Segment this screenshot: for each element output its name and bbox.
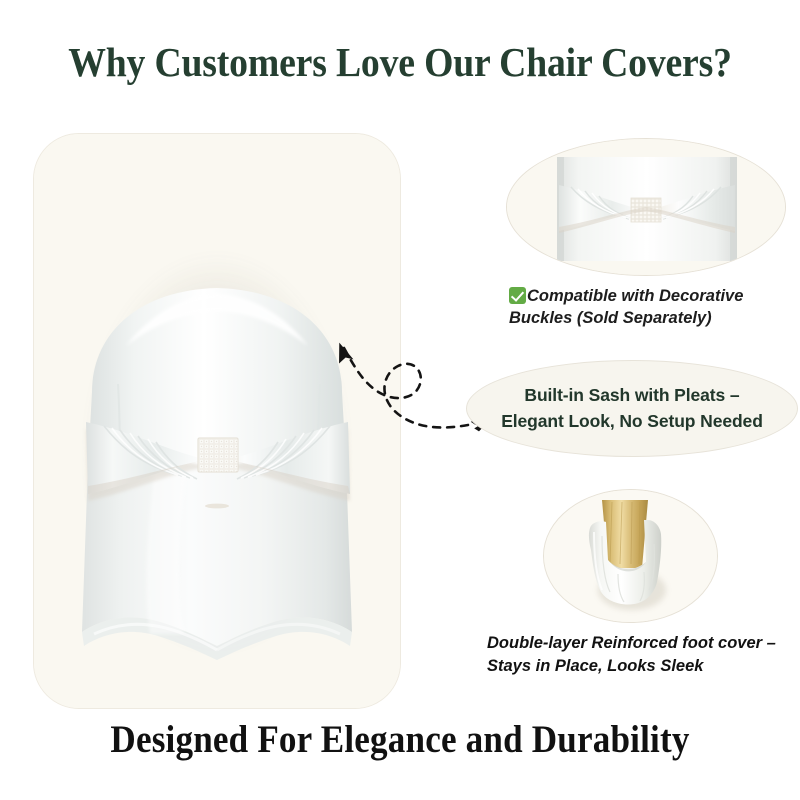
green-check-icon [509, 287, 526, 304]
chair-leg [602, 500, 648, 568]
callout-reinforced-foot-cover-line2: Stays in Place, Looks Sleek [487, 657, 703, 675]
callout-compatible-buckles: Compatible with DecorativeBuckles (Sold … [509, 285, 771, 330]
foot-cover-closeup-image [543, 489, 718, 623]
sash-closeup-svg [507, 139, 785, 275]
callout-built-in-sash-line2: Elegant Look, No Setup Needed [501, 411, 763, 431]
callout-reinforced-foot-cover-line1: Double-layer Reinforced foot cover – [487, 634, 776, 652]
foot-cover-closeup-svg [544, 490, 717, 622]
callout-compatible-buckles-line2: Buckles (Sold Separately) [509, 309, 712, 327]
callout-built-in-sash: Built-in Sash with Pleats –Elegant Look,… [466, 360, 798, 457]
sash-closeup-image [506, 138, 786, 276]
page-footer-title: Designed For Elegance and Durability [40, 717, 760, 762]
callout-compatible-buckles-line1: Compatible with Decorative [527, 287, 743, 305]
callout-reinforced-foot-cover: Double-layer Reinforced foot cover –Stay… [487, 632, 787, 678]
callout-built-in-sash-line1: Built-in Sash with Pleats – [524, 385, 739, 405]
page-title: Why Customers Love Our Chair Covers? [32, 38, 768, 86]
infographic-canvas: Why Customers Love Our Chair Covers? [0, 0, 800, 800]
